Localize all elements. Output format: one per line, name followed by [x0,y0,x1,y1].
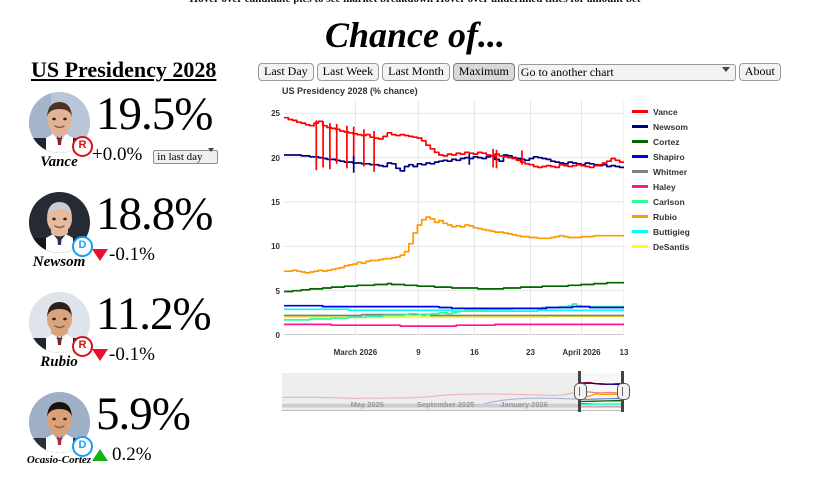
navigator-handle-right[interactable] [621,371,624,412]
y-axis-tick-label: 0 [276,331,280,340]
candidate-percent: 11.2% [96,284,211,344]
candidate-delta: 0.2% [92,444,152,466]
navigator-date-label: January 2026 [500,400,548,409]
hover-hint-banner: Hover over candidate pics to see market … [0,0,830,4]
period-select-wrapper: in last day [148,144,218,166]
legend-item[interactable]: Newsom [632,119,722,134]
maximum-button[interactable]: Maximum [453,63,515,81]
legend-label: Buttigieg [653,227,690,237]
legend-label: Haley [653,182,676,192]
candidate-row: RRubio11.2%-0.1% [0,288,256,388]
navigator-date-label: May 2025 [351,400,384,409]
legend-label: Vance [653,107,678,117]
y-axis-tick-label: 15 [271,198,280,207]
candidate-list: RVance19.5%+0.0%in last day DNewsom18.8%… [0,88,256,488]
chart-legend: VanceNewsomCortezShapiroWhitmerHaleyCarl… [632,104,722,254]
last-month-button[interactable]: Last Month [382,63,450,81]
candidate-delta-value: +0.0% [92,144,142,166]
legend-item[interactable]: Shapiro [632,149,722,164]
legend-color-swatch [632,230,648,233]
candidate-percent: 18.8% [96,184,212,244]
page-title: Chance of... [0,14,830,56]
arrow-down-icon [92,349,108,361]
legend-color-swatch [632,215,648,218]
candidate-percent: 19.5% [96,84,212,144]
grip-icon [574,383,587,400]
legend-label: Rubio [653,212,677,222]
market-title-link[interactable]: US Presidency 2028 [31,57,216,83]
legend-color-swatch [632,200,648,203]
candidate-delta-value: -0.1% [109,244,155,266]
arrow-down-icon [92,249,108,261]
legend-color-swatch [632,140,648,143]
x-axis-tick-label: 16 [470,348,479,357]
chart-select-wrapper: Go to another chart [518,63,736,81]
candidate-delta: -0.1% [92,244,155,266]
grip-icon [617,383,630,400]
legend-color-swatch [632,125,648,128]
legend-label: Whitmer [653,167,687,177]
legend-label: Cortez [653,137,679,147]
legend-color-swatch [632,185,648,188]
legend-label: Carlson [653,197,685,207]
candidate-delta-value: 0.2% [112,444,152,466]
y-axis-labels: 0510152025 [256,100,280,335]
y-axis-tick-label: 10 [271,242,280,251]
chart-navigator[interactable]: May 2025September 2025January 2026 [282,373,623,412]
candidate-delta: +0.0%in last day [92,144,218,166]
legend-color-swatch [632,155,648,158]
chart-toolbar: Last Day Last Week Last Month Maximum Go… [258,63,781,81]
navigator-date-label: September 2025 [417,400,475,409]
chart-plot-area[interactable] [284,100,624,335]
x-axis-tick-label: March 2026 [334,348,378,357]
candidate-row: DNewsom18.8%-0.1% [0,188,256,288]
candidate-delta-value: -0.1% [109,344,155,366]
legend-item[interactable]: Rubio [632,209,722,224]
legend-item[interactable]: DeSantis [632,239,722,254]
legend-item[interactable]: Carlson [632,194,722,209]
y-axis-tick-label: 5 [276,287,280,296]
legend-color-swatch [632,110,648,113]
candidate-row: RVance19.5%+0.0%in last day [0,88,256,188]
legend-label: Shapiro [653,152,685,162]
navigator-handle-left[interactable] [578,371,581,412]
chart-title: US Presidency 2028 (% chance) [282,86,418,96]
legend-item[interactable]: Vance [632,104,722,119]
legend-item[interactable]: Buttigieg [632,224,722,239]
legend-item[interactable]: Cortez [632,134,722,149]
legend-label: Newsom [653,122,688,132]
chart-container: US Presidency 2028 (% chance) 0510152025… [256,86,716,406]
x-axis-tick-label: 9 [416,348,420,357]
arrow-up-icon [92,449,108,461]
x-axis-tick-label: April 2026 [562,348,600,357]
last-day-button[interactable]: Last Day [258,63,314,81]
candidate-percent: 5.9% [96,384,190,444]
legend-item[interactable]: Haley [632,179,722,194]
legend-color-swatch [632,245,648,248]
about-button[interactable]: About [739,63,781,81]
x-axis-tick-label: 23 [526,348,535,357]
candidate-delta: -0.1% [92,344,155,366]
y-axis-tick-label: 25 [271,109,280,118]
y-axis-tick-label: 20 [271,154,280,163]
candidate-row: DOcasio-Cortez5.9%0.2% [0,388,256,488]
legend-item[interactable]: Whitmer [632,164,722,179]
legend-label: DeSantis [653,242,689,252]
legend-color-swatch [632,170,648,173]
x-axis-tick-label: 13 [620,348,629,357]
x-axis-labels: March 202691623April 202613 [284,348,624,362]
go-to-another-chart-select[interactable]: Go to another chart [518,64,736,81]
last-week-button[interactable]: Last Week [317,63,379,81]
delta-period-select[interactable]: in last day [153,150,218,164]
